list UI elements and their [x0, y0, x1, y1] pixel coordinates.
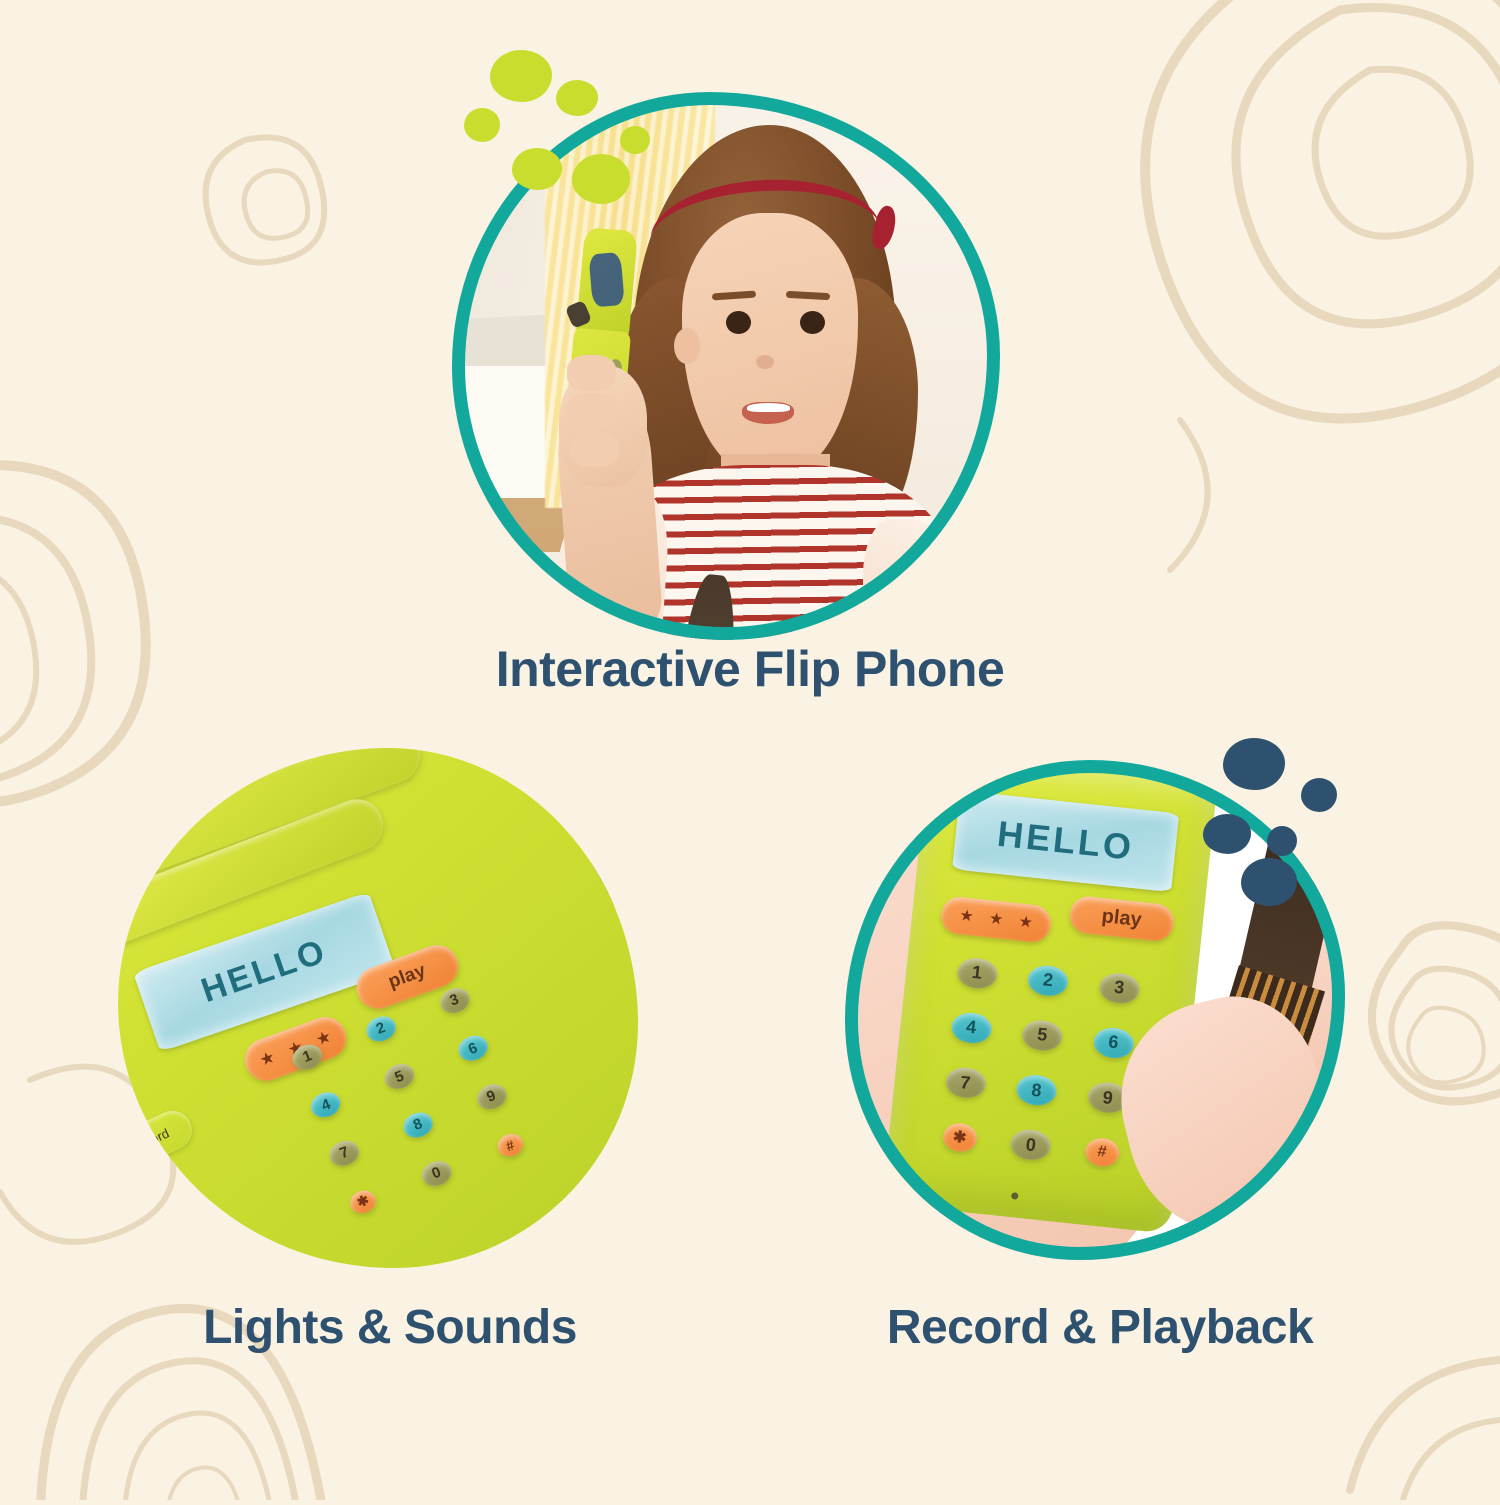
key-1[interactable]: 1	[289, 1040, 326, 1073]
key-hash-right[interactable]: #	[1084, 1137, 1121, 1168]
photo-frame-lights-sounds: HELLO record ★★★ play 1 2 3 4	[118, 748, 638, 1268]
key-4[interactable]: 4	[307, 1088, 344, 1121]
key-2-right[interactable]: 2	[1027, 964, 1070, 998]
key-1-right[interactable]: 1	[955, 956, 998, 990]
photo-phone-closeup: HELLO record ★★★ play 1 2 3 4	[118, 748, 638, 1268]
panel-record-and-playback: HELLO ★★★ play 1 2 3 4 5 6 7	[845, 760, 1345, 1260]
keypad-right: 1 2 3 4 5 6 7 8 9 ✱ 0 #	[921, 942, 1157, 1184]
caption-lights-and-sounds: Lights & Sounds	[60, 1300, 720, 1355]
toy-phone-left: HELLO record ★★★ play 1 2 3 4	[118, 748, 638, 1268]
key-3-right[interactable]: 3	[1098, 971, 1141, 1005]
key-6[interactable]: 6	[454, 1032, 491, 1065]
accent-blobs-navy	[1201, 730, 1391, 910]
key-hash[interactable]: #	[493, 1130, 525, 1160]
caption-record-and-playback: Record & Playback	[790, 1300, 1410, 1355]
key-4-right[interactable]: 4	[950, 1011, 993, 1045]
key-0[interactable]: 0	[418, 1156, 455, 1189]
stars-glyphs-right: ★★★	[941, 906, 1052, 933]
accent-blobs-lime	[442, 50, 642, 220]
key-9[interactable]: 9	[473, 1080, 510, 1113]
panel-lights-and-sounds: HELLO record ★★★ play 1 2 3 4	[118, 748, 638, 1268]
key-0-right[interactable]: 0	[1009, 1128, 1052, 1162]
key-3[interactable]: 3	[436, 983, 473, 1016]
microphone-hole	[1011, 1192, 1019, 1200]
key-2[interactable]: 2	[362, 1012, 399, 1045]
key-7[interactable]: 7	[326, 1136, 363, 1169]
key-5-right[interactable]: 5	[1021, 1018, 1064, 1052]
key-8[interactable]: 8	[399, 1108, 436, 1141]
caption-interactive-flip-phone: Interactive Flip Phone	[0, 640, 1500, 698]
panel-interactive-flip-phone	[452, 92, 1000, 640]
key-star-right[interactable]: ✱	[941, 1122, 978, 1153]
key-7-right[interactable]: 7	[944, 1066, 987, 1100]
key-6-right[interactable]: 6	[1092, 1026, 1135, 1060]
key-star[interactable]: ✱	[346, 1186, 378, 1216]
key-8-right[interactable]: 8	[1015, 1073, 1058, 1107]
key-5[interactable]: 5	[381, 1060, 418, 1093]
